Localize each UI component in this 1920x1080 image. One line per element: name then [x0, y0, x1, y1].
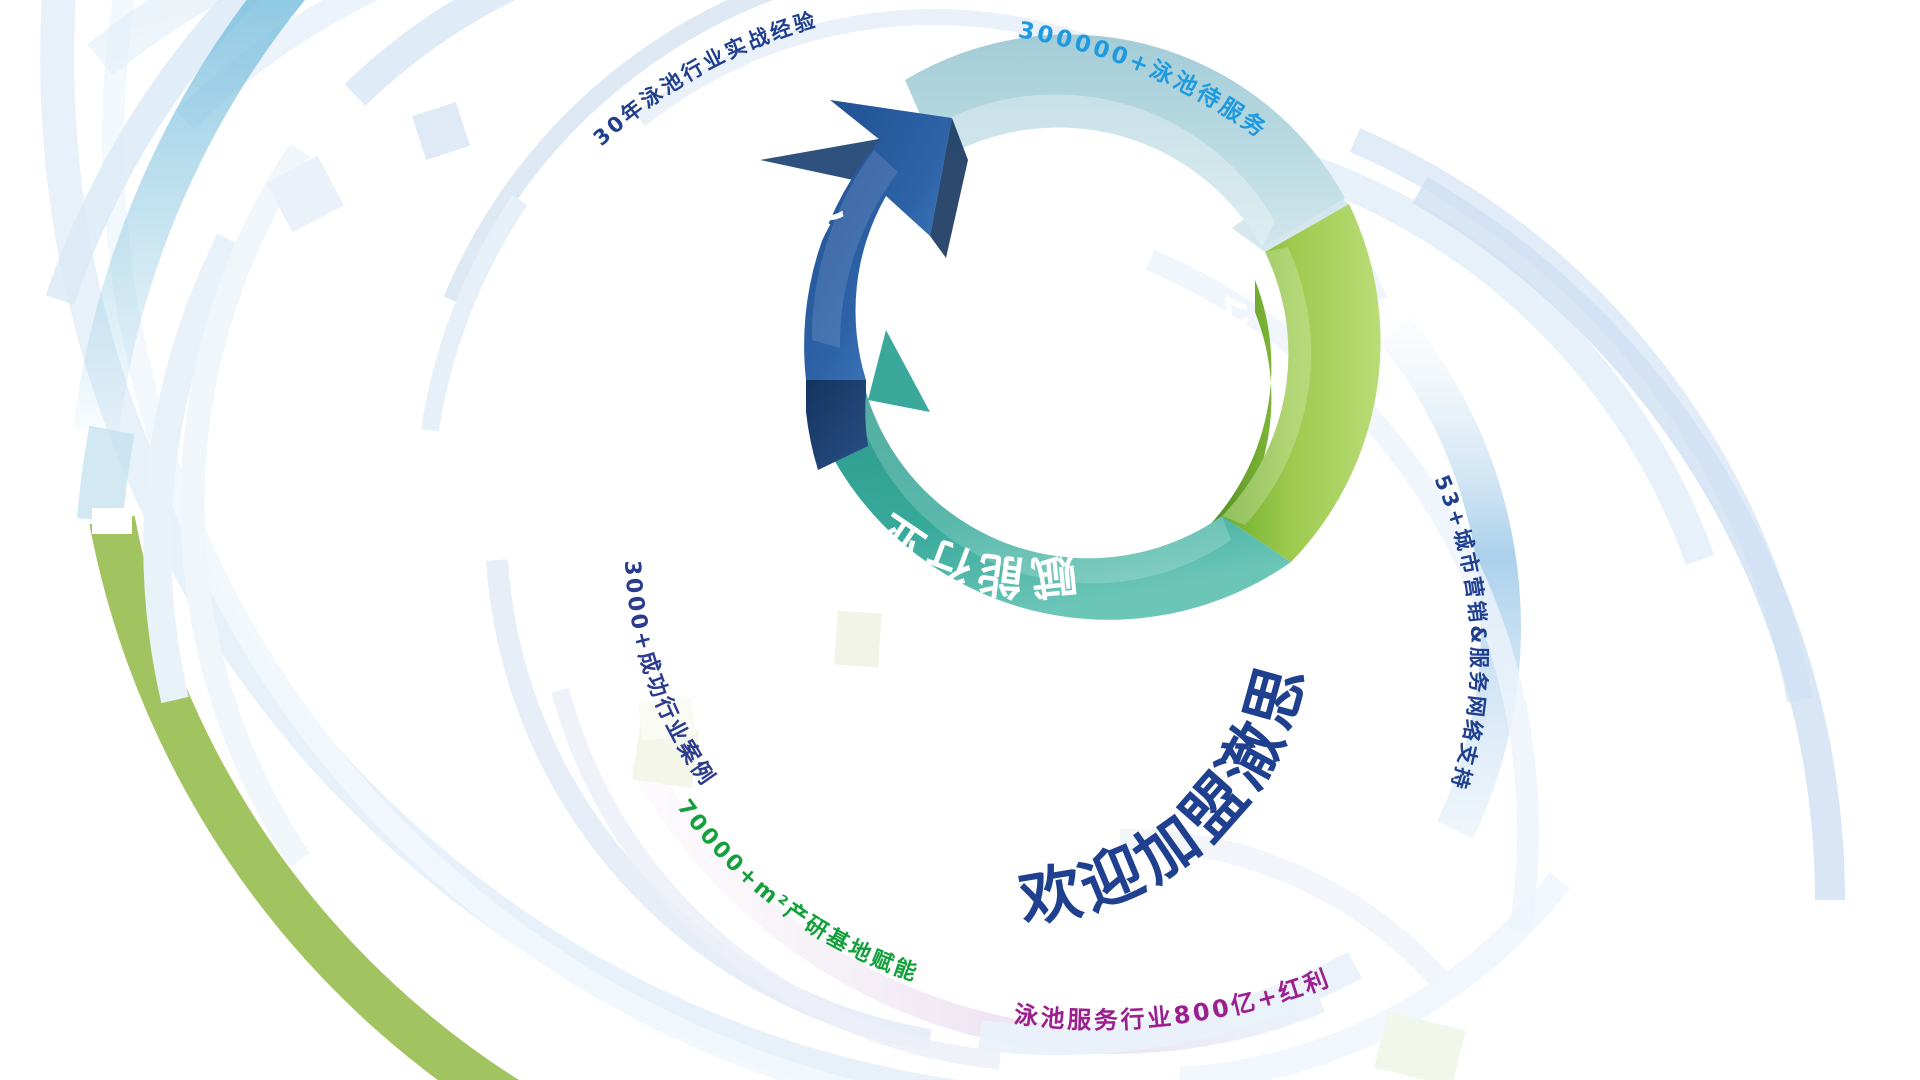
- ring-segment-green-label: 分享利益: [1170, 290, 1256, 501]
- poster-canvas: 赋能行业 分享利益 持续发展: [0, 0, 1920, 1080]
- ring-segment-teal-label: 赋能行业: [863, 501, 1080, 605]
- poster-artwork: 赋能行业 分享利益 持续发展: [0, 0, 1920, 1080]
